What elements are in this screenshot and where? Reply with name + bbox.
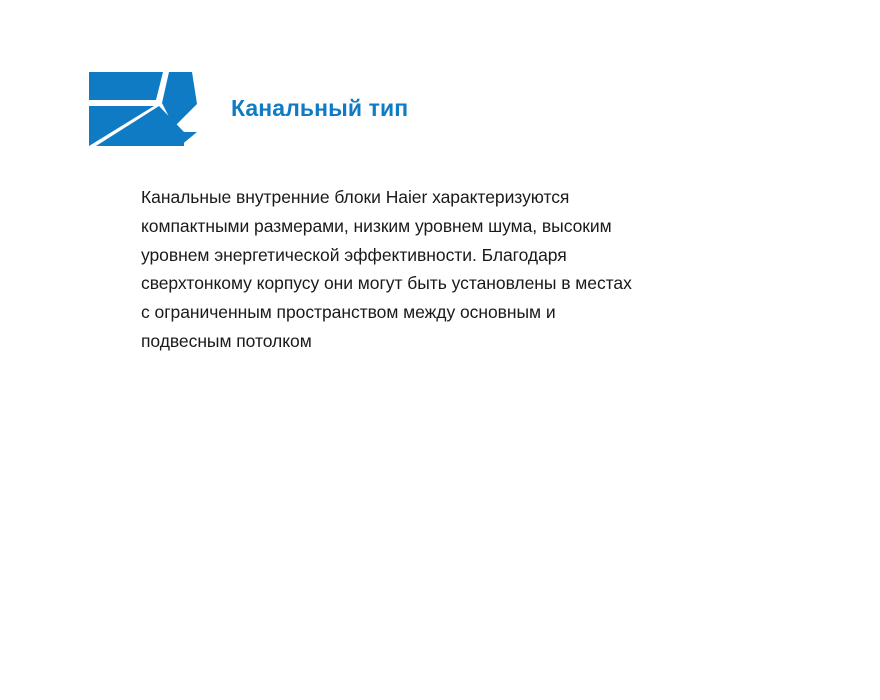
slide-header: Канальный тип <box>0 0 880 165</box>
body-line: подвесным потолком <box>141 327 781 356</box>
body-copy: Канальные внутренние блоки Haier характе… <box>141 183 781 356</box>
body-line: сверхтонкому корпусу они могут быть уста… <box>141 269 781 298</box>
haier-polygon-logo-icon <box>88 70 198 148</box>
slide-canvas: Канальный тип Канальные внутренние блоки… <box>0 0 880 700</box>
body-line: компактными размерами, низким уровнем шу… <box>141 212 781 241</box>
body-line: уровнем энергетической эффективности. Бл… <box>141 241 781 270</box>
body-line: с ограниченным пространством между основ… <box>141 298 781 327</box>
body-line: Канальные внутренние блоки Haier характе… <box>141 183 781 212</box>
page-title: Канальный тип <box>231 94 408 122</box>
